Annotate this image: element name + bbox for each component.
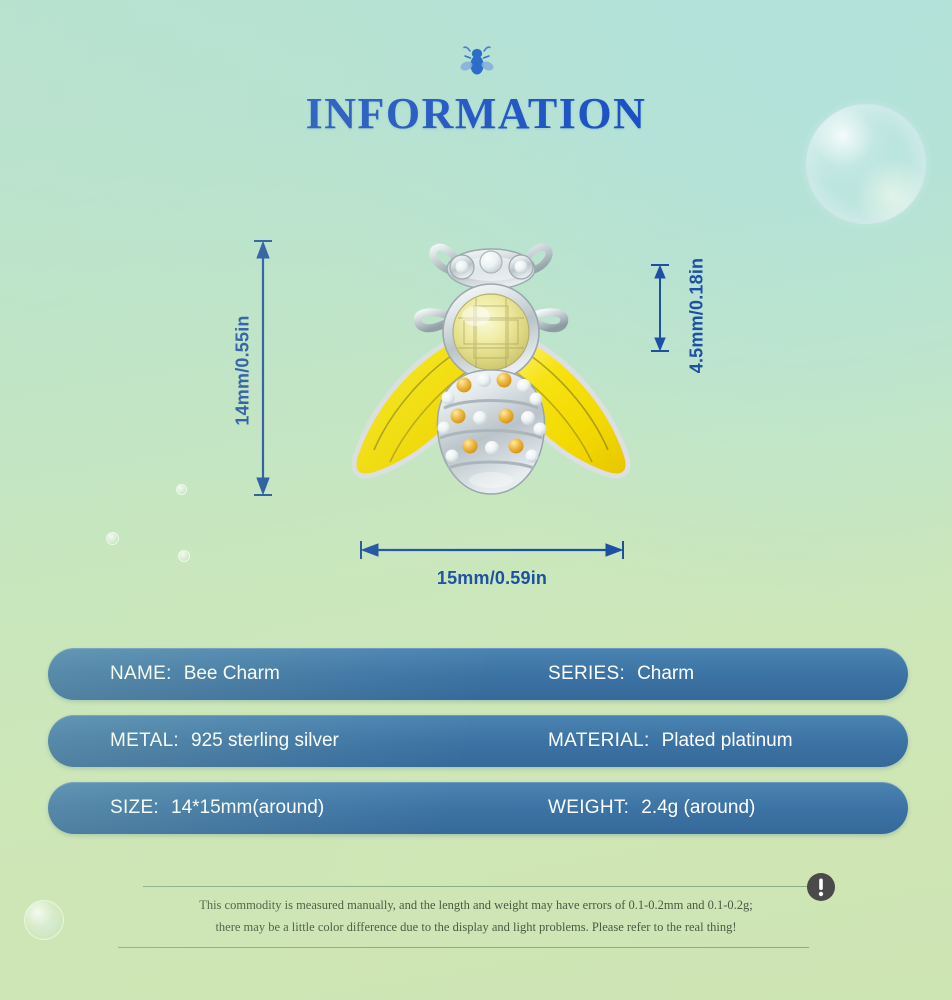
spec-row-size: SIZE: 14*15mm(around) WEIGHT: 2.4g (arou…: [48, 782, 908, 834]
spec-key: WEIGHT:: [548, 797, 629, 819]
spec-cell-size: SIZE: 14*15mm(around): [110, 797, 324, 819]
bee-charm-image: [336, 222, 646, 512]
information-page: INFORMATION: [0, 0, 952, 1000]
spec-cell-metal: METAL: 925 sterling silver: [110, 730, 339, 752]
spec-cell-material: MATERIAL: Plated platinum: [548, 730, 793, 752]
disclaimer-line-2: there may be a little color difference d…: [215, 917, 736, 939]
bubble-decoration: [24, 900, 64, 940]
bee-icon: [456, 42, 498, 84]
product-illustration-area: 14mm/0.55in 4.5mm/0.18in: [0, 200, 952, 620]
spec-cell-name: NAME: Bee Charm: [110, 663, 280, 685]
disclaimer-text: This commodity is measured manually, and…: [118, 886, 834, 948]
spec-value: 2.4g (around): [641, 797, 755, 819]
spec-cell-weight: WEIGHT: 2.4g (around): [548, 797, 755, 819]
spec-value: Plated platinum: [662, 730, 793, 752]
dimension-height: [250, 238, 276, 498]
page-title: INFORMATION: [0, 88, 952, 139]
spec-cell-series: SERIES: Charm: [548, 663, 694, 685]
spec-key: NAME:: [110, 663, 172, 685]
spec-value: 925 sterling silver: [191, 730, 339, 752]
spec-key: SIZE:: [110, 797, 159, 819]
spec-key: MATERIAL:: [548, 730, 650, 752]
spec-value: 14*15mm(around): [171, 797, 324, 819]
spec-value: Charm: [637, 663, 694, 685]
spec-key: SERIES:: [548, 663, 625, 685]
spec-key: METAL:: [110, 730, 179, 752]
exclamation-circle-icon: [806, 872, 836, 902]
dimension-height-label: 14mm/0.55in: [233, 301, 254, 441]
spec-value: Bee Charm: [184, 663, 280, 685]
disclaimer-line-1: This commodity is measured manually, and…: [199, 895, 753, 917]
dimension-thickness: [648, 262, 672, 354]
spec-row-metal: METAL: 925 sterling silver MATERIAL: Pla…: [48, 715, 908, 767]
disclaimer-banner: This commodity is measured manually, and…: [118, 886, 834, 948]
dimension-thickness-label: 4.5mm/0.18in: [687, 241, 708, 391]
specification-list: NAME: Bee Charm SERIES: Charm METAL: 925…: [48, 648, 908, 849]
dimension-width-label: 15mm/0.59in: [358, 568, 626, 589]
dimension-width: [358, 538, 626, 562]
spec-row-name: NAME: Bee Charm SERIES: Charm: [48, 648, 908, 700]
